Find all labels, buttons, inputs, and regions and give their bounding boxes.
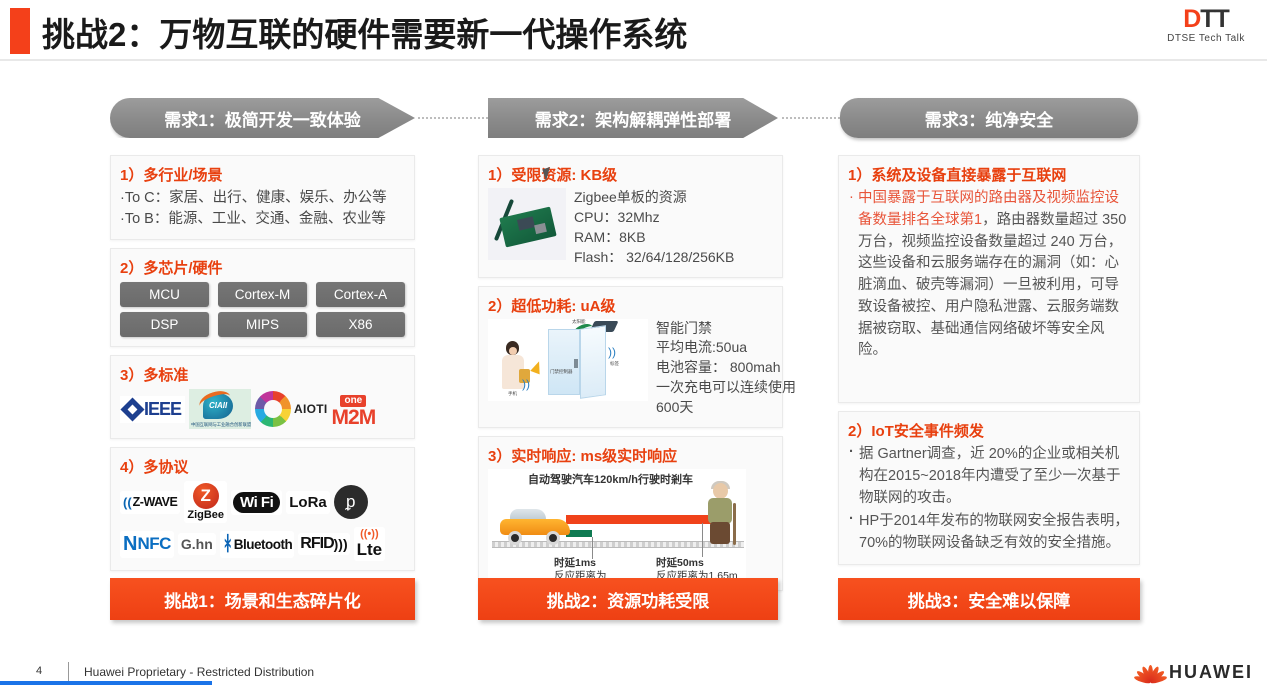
column-2: 1）受限资源: KB级 Zigbee单板的资源 CPU：32Mhz RAM：8K…	[478, 155, 783, 599]
nfc-n-mark: N	[123, 533, 137, 556]
pointer-line-50ms	[702, 523, 703, 557]
power-line-title: 智能门禁	[656, 319, 796, 339]
challenge-bar-2: 挑战2：资源功耗受限	[478, 578, 778, 620]
pedestrian-legs-shape	[710, 522, 730, 544]
power-line-battery: 电池容量： 800mah	[656, 358, 796, 378]
dtt-logo: DTT DTSE Tech Talk	[1153, 6, 1259, 50]
chip-cortex-m[interactable]: Cortex-M	[218, 282, 307, 307]
dtt-logo-mark: DTT	[1153, 6, 1259, 32]
zigbee-icon: Z ZigBee	[184, 481, 227, 523]
lora-label: LoRa	[289, 494, 327, 511]
header-divider	[0, 59, 1267, 61]
chip-mips[interactable]: MIPS	[218, 312, 307, 337]
panel-iot-incidents: 2）IoT安全事件频发 据 Gartner调查，近 20%的企业或相关机构在20…	[838, 411, 1140, 565]
bullet-toc: ·To C：家居、出行、健康、娱乐、办公等	[120, 188, 405, 209]
huawei-logo: HUAWEI	[1137, 662, 1253, 683]
onem2m-one-label: one	[340, 395, 366, 407]
lora-icon: LoRa	[286, 491, 330, 514]
panel-title: 1）系统及设备直接暴露于互联网	[848, 164, 1130, 185]
braking-distance-image: 自动驾驶汽车120km/h行驶时剎车	[488, 469, 746, 581]
ieee-label: IEEE	[144, 399, 181, 420]
bluetooth-label: Bluetooth	[234, 537, 293, 552]
panel-exposure: 1）系统及设备直接暴露于互联网 中国暴露于互联网的路由器及视频监控设备数量排名全…	[838, 155, 1140, 403]
footer-progress-bar	[0, 681, 212, 685]
resource-media-block: Zigbee单板的资源 CPU：32Mhz RAM：8KB Flash： 32/…	[488, 188, 773, 268]
panel-realtime: 3）实时响应: ms级实时响应 自动驾驶汽车120km/h行驶时剎车	[478, 436, 783, 591]
panel-title: 1）多行业/场景	[120, 164, 405, 185]
solar-label: 太阳能	[572, 319, 586, 325]
pedestrian-head-shape	[713, 483, 728, 499]
spec-line-flash: Flash： 32/64/128/256KB	[574, 248, 734, 268]
connector-2-3	[782, 117, 840, 119]
controller-label: 门禁控制器	[550, 369, 573, 375]
panel-title: 1）受限资源: KB级	[488, 164, 773, 185]
power-line-life-2: 600天	[656, 398, 796, 418]
column-3: 1）系统及设备直接暴露于互联网 中国暴露于互联网的路由器及视频监控设备数量排名全…	[838, 155, 1140, 573]
resource-spec-lines: Zigbee单板的资源 CPU：32Mhz RAM：8KB Flash： 32/…	[574, 188, 734, 268]
power-line-current: 平均电流:50ua	[656, 338, 796, 358]
chip-dsp[interactable]: DSP	[120, 312, 209, 337]
aioti-label: AIOTI	[294, 402, 328, 416]
thread-glyph: ᵱ	[346, 492, 355, 512]
iot-incident-bullets: 据 Gartner调查，近 20%的企业或相关机构在2015~2018年内遭受了…	[848, 444, 1130, 555]
pedestrian-torso-shape	[708, 498, 732, 524]
ghn-icon: G.hn	[178, 533, 216, 555]
person-face-shape	[509, 347, 517, 355]
door-handle-shape	[574, 359, 578, 368]
onem2m-m2m-label: M2M	[332, 407, 376, 428]
footer-notice: Huawei Proprietary - Restricted Distribu…	[84, 665, 314, 679]
column-header-1: 需求1：极简开发一致体验	[110, 98, 415, 138]
delay-50ms-bar	[566, 515, 718, 524]
panel-title: 2）超低功耗: uA级	[488, 295, 773, 316]
door-leaf-shape	[580, 325, 606, 399]
zwave-icon: (( Z-WAVE	[120, 491, 180, 514]
spec-line-title: Zigbee单板的资源	[574, 188, 734, 208]
onem2m-icon: one M2M	[332, 391, 376, 428]
chip-mcu[interactable]: MCU	[120, 282, 209, 307]
standards-logo-row: IEEE CIAII 中国互联网与工业融合创新联盟 AIOTI one M2M	[120, 389, 405, 429]
column-1: 1）多行业/场景 ·To C：家居、出行、健康、娱乐、办公等 ·To B：能源、…	[110, 155, 415, 579]
lte-icon: ((•)) Lte	[354, 527, 386, 561]
page-number: 4	[36, 665, 42, 677]
zigbee-label: ZigBee	[187, 509, 224, 521]
column-header-3: 需求3：纯净安全	[840, 98, 1138, 138]
nfc-icon: N NFC	[120, 531, 174, 558]
phone-wave-icon: ))	[522, 377, 530, 391]
car-icon	[500, 509, 570, 541]
chip-cortex-a[interactable]: Cortex-A	[316, 282, 405, 307]
panel-title: 2）IoT安全事件频发	[848, 420, 1130, 441]
bluetooth-icon: ᚼ Bluetooth	[220, 531, 295, 558]
panel-industries: 1）多行业/场景 ·To C：家居、出行、健康、娱乐、办公等 ·To B：能源、…	[110, 155, 415, 240]
dtt-logo-d: D	[1183, 5, 1200, 33]
panel-limited-resources: 1）受限资源: KB级 Zigbee单板的资源 CPU：32Mhz RAM：8K…	[478, 155, 783, 278]
annotation-1ms-title: 时延1ms	[554, 557, 596, 569]
dtt-logo-tt: TT	[1200, 5, 1229, 33]
ghn-label: G.hn	[181, 536, 213, 552]
page-title: 挑战2：万物互联的硬件需要新一代操作系统	[42, 8, 687, 56]
panel-title: 3）多标准	[120, 364, 405, 385]
challenge-bar-3: 挑战3：安全难以保障	[838, 578, 1140, 620]
wifi-label: Wi Fi	[233, 492, 280, 513]
title-accent-bar	[10, 8, 30, 54]
exposure-rest: ，路由器数量超过 350 万台，视频监控设备数量超过 240 万台，这些设备和云…	[858, 212, 1126, 359]
slide: 挑战2：万物互联的硬件需要新一代操作系统 DTT DTSE Tech Talk …	[0, 0, 1267, 685]
panel-protocols: 4）多协议 (( Z-WAVE Z ZigBee Wi Fi LoRa ᵱ	[110, 447, 415, 571]
braking-caption: 自动驾驶汽车120km/h行驶时剎车	[528, 471, 693, 487]
zigbee-z-mark: Z	[193, 483, 219, 509]
car-wheel-rear	[546, 531, 560, 545]
tag-wave-icon: ))	[608, 345, 616, 359]
rfid-icon: RFID )))	[298, 533, 349, 555]
protocol-logo-row-1: (( Z-WAVE Z ZigBee Wi Fi LoRa ᵱ	[120, 481, 405, 523]
lte-label: Lte	[357, 540, 383, 560]
industries-bullets: ·To C：家居、出行、健康、娱乐、办公等 ·To B：能源、工业、交通、金融、…	[120, 188, 405, 230]
huawei-flower-icon	[1137, 664, 1163, 682]
chip-grid: MCU Cortex-M Cortex-A DSP MIPS X86	[120, 282, 405, 337]
spec-line-cpu: CPU：32Mhz	[574, 208, 734, 228]
power-media-block: )) )) 太阳能 标签 手机 门禁控制器 智能门禁 平均电流:50ua 电池容…	[488, 319, 773, 418]
car-wheel-front	[508, 531, 522, 545]
panel-chips: 2）多芯片/硬件 MCU Cortex-M Cortex-A DSP MIPS …	[110, 248, 415, 347]
bluetooth-mark: ᚼ	[222, 533, 234, 556]
ciaii-caption: 中国互联网与工业融合创新联盟	[191, 422, 249, 428]
aioti-ring-icon	[255, 391, 291, 427]
panel-low-power: 2）超低功耗: uA级 )) )) 太阳能 标签	[478, 286, 783, 428]
signal-bolt-icon	[530, 359, 544, 374]
spec-line-ram: RAM：8KB	[574, 228, 734, 248]
wifi-icon: Wi Fi	[231, 490, 282, 515]
chip-x86[interactable]: X86	[316, 312, 405, 337]
panel-title: 2）多芯片/硬件	[120, 257, 405, 278]
dtt-logo-subtitle: DTSE Tech Talk	[1153, 33, 1259, 44]
pedestrian-cane-shape	[733, 503, 736, 545]
thread-icon: ᵱ	[334, 485, 368, 519]
nfc-label: NFC	[137, 534, 170, 554]
pedestrian-icon	[700, 483, 742, 545]
rfid-label: RFID	[300, 535, 333, 553]
panel-title: 4）多协议	[120, 456, 405, 477]
annotation-50ms-title: 时延50ms	[656, 557, 704, 569]
power-spec-lines: 智能门禁 平均电流:50ua 电池容量： 800mah 一次充电可以连续使用 6…	[656, 319, 796, 418]
power-line-life-1: 一次充电可以连续使用	[656, 378, 796, 398]
ciaii-icon: CIAII 中国互联网与工业融合创新联盟	[189, 389, 251, 429]
panel-title: 3）实时响应: ms级实时响应	[488, 445, 773, 466]
lte-signal-icon: ((•))	[360, 528, 379, 540]
zigbee-board-image	[488, 188, 566, 260]
zwave-label: Z-WAVE	[133, 495, 178, 509]
challenge-bar-1: 挑战1：场景和生态碎片化	[110, 578, 415, 620]
pointer-line-1ms	[592, 537, 593, 559]
iot-bullet-hp: HP于2014年发布的物联网安全报告表明，70%的物联网设备缺乏有效的安全措施。	[848, 511, 1130, 555]
huawei-wordmark: HUAWEI	[1169, 662, 1253, 683]
tag-label: 标签	[610, 361, 619, 367]
panel-standards: 3）多标准 IEEE CIAII 中国互联网与工业融合创新联盟 AIOTI	[110, 355, 415, 439]
phone-label: 手机	[508, 391, 517, 397]
protocol-logo-row-2: N NFC G.hn ᚼ Bluetooth RFID ))) ((•)) Lt…	[120, 527, 405, 561]
smart-door-image: )) )) 太阳能 标签 手机 门禁控制器	[488, 319, 648, 401]
ciaii-label: CIAII	[209, 401, 227, 410]
column-header-2: 需求2：架构解耦弹性部署	[488, 98, 778, 138]
bullet-tob: ·To B：能源、工业、交通、金融、农业等	[120, 209, 405, 230]
aioti-icon: AIOTI	[255, 391, 328, 427]
connector-1-2	[418, 117, 488, 119]
exposure-paragraph: 中国暴露于互联网的路由器及视频监控设备数量排名全球第1，路由器数量超过 350 …	[848, 188, 1130, 362]
iot-bullet-gartner: 据 Gartner调查，近 20%的企业或相关机构在2015~2018年内遭受了…	[848, 444, 1130, 509]
ieee-diamond-icon	[120, 397, 144, 421]
ieee-icon: IEEE	[120, 396, 185, 423]
